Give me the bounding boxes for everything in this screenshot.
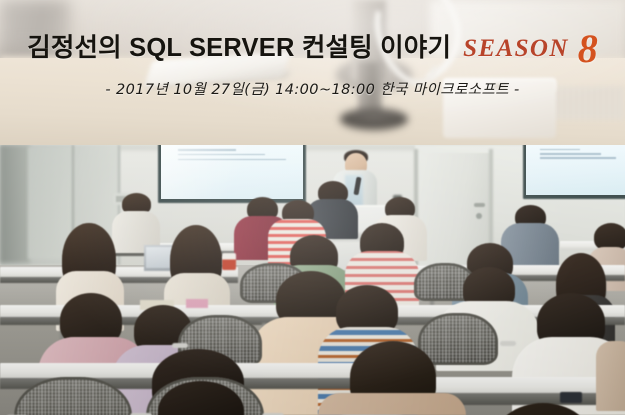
banner-subtitle: - 2017년 10월 27일(금) 14:00~18:00 한국 마이크로소프… <box>0 78 625 99</box>
banner-title-main: 김정선의 SQL SERVER 컨설팅 이야기 <box>27 27 451 64</box>
room-door-handle <box>474 203 485 207</box>
header-bg-light-overlay <box>0 0 625 145</box>
projector-screen-left-glare <box>161 145 303 199</box>
chair-arm <box>172 343 188 348</box>
projector-screen-right-slide-text <box>540 149 620 162</box>
chair <box>418 313 498 365</box>
seminar-banner: 김정선의 SQL SERVER 컨설팅 이야기 SEASON 8 - 2017년… <box>0 0 625 415</box>
smartphone <box>560 392 582 403</box>
attendee-torso <box>318 393 466 415</box>
coffee-cup <box>222 253 236 270</box>
banner-title-row: 김정선의 SQL SERVER 컨설팅 이야기 SEASON 8 <box>0 27 625 64</box>
attendee-torso-partial <box>596 341 625 411</box>
chair-arm <box>500 341 516 346</box>
room-door-lock <box>476 213 482 219</box>
banner-title-season: SEASON <box>463 35 569 63</box>
banner-title-number: 8 <box>578 33 598 65</box>
seminar-photo <box>0 145 625 415</box>
room-left-wall-shadow <box>0 145 30 263</box>
paper-handout-pink <box>186 299 208 308</box>
banner-header: 김정선의 SQL SERVER 컨설팅 이야기 SEASON 8 - 2017년… <box>0 0 625 145</box>
